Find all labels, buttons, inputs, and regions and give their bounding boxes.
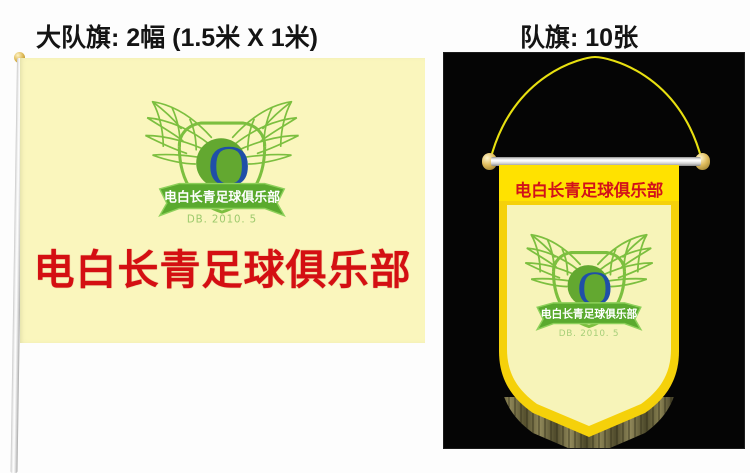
svg-text:DB. 2010. 5: DB. 2010. 5 bbox=[559, 329, 620, 339]
flag-club-name: 电白长青足球俱乐部 bbox=[20, 236, 425, 296]
right-heading: 队旗: 10张 bbox=[520, 18, 638, 54]
flag-cloth: Q 电白长青足球俱乐部 DB. 2010. 5 电白长青足球俱乐部 bbox=[20, 58, 425, 343]
left-heading: 大队旗: 2幅 (1.5米 X 1米) bbox=[36, 18, 318, 54]
pennant-banner-text: 电白长青足球俱乐部 bbox=[501, 177, 677, 201]
big-flag-figure: Q 电白长青足球俱乐部 DB. 2010. 5 电白长青足球俱乐部 bbox=[0, 52, 440, 472]
crest-founded-text: DB. 2010. 5 bbox=[187, 215, 257, 226]
crest-ribbon-text: 电白长青足球俱乐部 bbox=[164, 189, 280, 205]
crest-on-flag: Q 电白长青足球俱乐部 DB. 2010. 5 bbox=[133, 80, 311, 232]
pennant-body: Q 电白长青足球俱乐部 DB. 2010. 5 bbox=[499, 165, 679, 449]
pennant-photo-panel: Q 电白长青足球俱乐部 DB. 2010. 5 电白长青足球俱乐部 bbox=[443, 52, 745, 449]
svg-text:电白长青足球俱乐部: 电白长青足球俱乐部 bbox=[541, 308, 638, 321]
